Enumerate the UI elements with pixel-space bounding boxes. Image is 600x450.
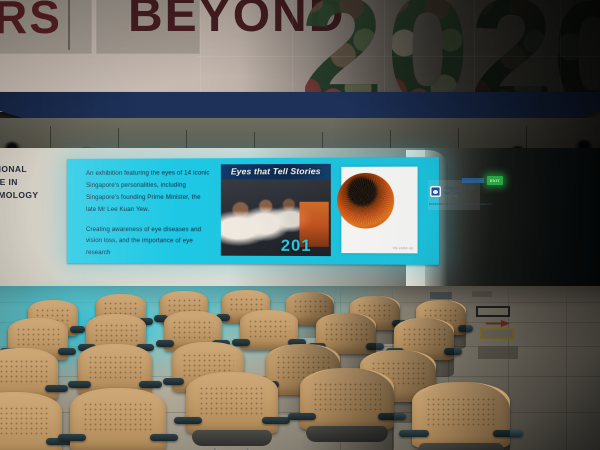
exit-sign: EXIT [487,176,503,185]
logo-secondary-name: SingHealth [444,194,458,198]
slide-body-text: An exhibition featuring the eyes of 14 i… [86,167,213,264]
slide-photo-year-overlay: 201 [281,239,312,255]
slide-photo-block: Eyes that Tell Stories 201 [221,164,331,256]
slide-eye-caption: iris-close-up [393,246,414,250]
auditorium-chair [0,392,62,450]
logo-tagline: PATRONS OF THE WOMEN'S EYE HEALTH [429,202,492,206]
slide-paragraph: An exhibition featuring the eyes of 14 i… [86,167,213,215]
iris-photo [337,173,394,229]
eye-logo-icon [430,186,441,197]
projection-screen: An exhibition featuring the eyes of 14 i… [67,157,439,265]
auditorium-chair [70,388,166,450]
slide-photo-title: Eyes that Tell Stories [221,164,331,180]
wall-blue-strip [462,178,484,183]
mid-wall-shadow [425,148,600,308]
organisation-logo: Singapore National Eye Centre SingHealth… [428,180,480,210]
auditorium-chair [186,372,278,434]
slide-paragraph: Creating awareness of eye diseases and v… [86,224,213,260]
auditorium-chair [300,368,394,430]
conference-hall-photo: RS BEYOND 2 0 2 0 [0,0,600,450]
slide-eye-image: iris-close-up [341,167,417,254]
slide-photo-image [221,179,331,256]
auditorium-chair [412,382,510,448]
